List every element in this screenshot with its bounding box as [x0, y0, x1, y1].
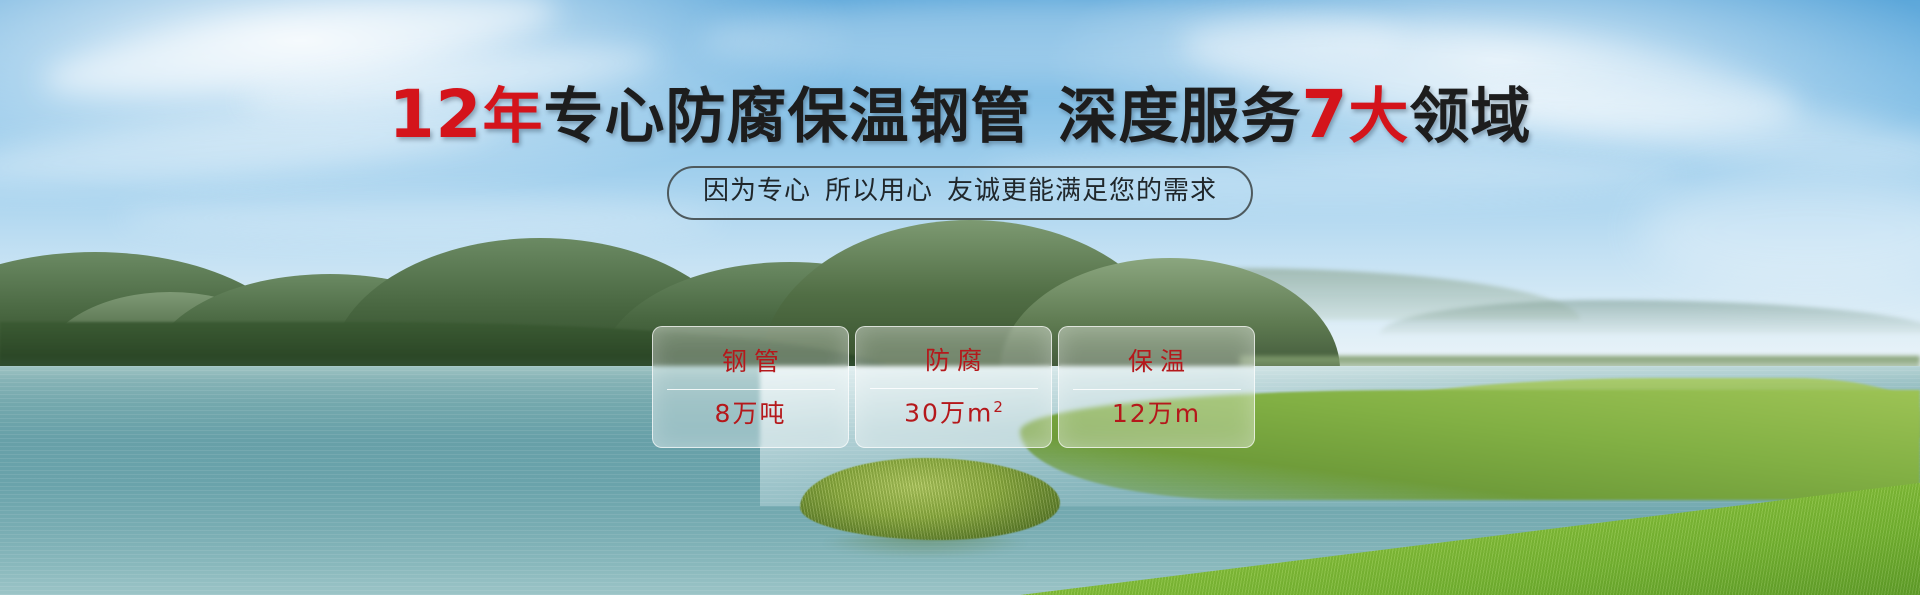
headline: 12年专心防腐保温钢管深度服务7大领域 [0, 82, 1920, 148]
headline-years-number: 12 [389, 76, 483, 153]
stat-card-title: 防腐 [918, 348, 989, 373]
stat-card-value-text: 8万吨 [715, 399, 787, 428]
subtitle-pill: 因为专心所以用心友诚更能满足您的需求 [667, 166, 1253, 220]
stat-card-value: 8万吨 [715, 401, 787, 426]
stat-card-insulation: 保温 12万m [1058, 326, 1255, 448]
headline-fields-word: 领域 [1409, 82, 1531, 152]
subtitle-part-2: 所以用心 [825, 176, 933, 206]
stat-card-value: 12万m [1112, 401, 1201, 426]
stat-card-divider [667, 389, 835, 390]
banner-content: 12年专心防腐保温钢管深度服务7大领域 因为专心所以用心友诚更能满足您的需求 钢… [0, 0, 1920, 595]
stat-card-value: 30万m2 [904, 400, 1003, 425]
stat-card-group: 钢管 8万吨 防腐 30万m2 保温 12万m [652, 326, 1255, 448]
promo-banner: 12年专心防腐保温钢管深度服务7大领域 因为专心所以用心友诚更能满足您的需求 钢… [0, 0, 1920, 595]
subtitle-part-1: 因为专心 [703, 176, 811, 206]
headline-years-unit: 年 [482, 82, 543, 152]
stat-card-title: 保温 [1121, 349, 1192, 374]
stat-card-divider [1073, 389, 1241, 390]
stat-card-title: 钢管 [715, 349, 786, 374]
subtitle-part-3: 友诚更能满足您的需求 [947, 176, 1217, 206]
stat-card-divider [870, 388, 1038, 389]
stat-card-steel-pipe: 钢管 8万吨 [652, 326, 849, 448]
headline-service-phrase: 深度服务 [1057, 82, 1301, 152]
stat-card-value-text: 30万m [904, 399, 993, 428]
stat-card-anticorrosion: 防腐 30万m2 [855, 326, 1052, 448]
headline-fields-unit: 大 [1348, 82, 1409, 152]
stat-card-value-text: 12万m [1112, 399, 1201, 428]
stat-card-value-superscript: 2 [993, 398, 1003, 416]
headline-main-phrase: 专心防腐保温钢管 [543, 82, 1031, 152]
headline-fields-number: 7 [1301, 76, 1348, 153]
